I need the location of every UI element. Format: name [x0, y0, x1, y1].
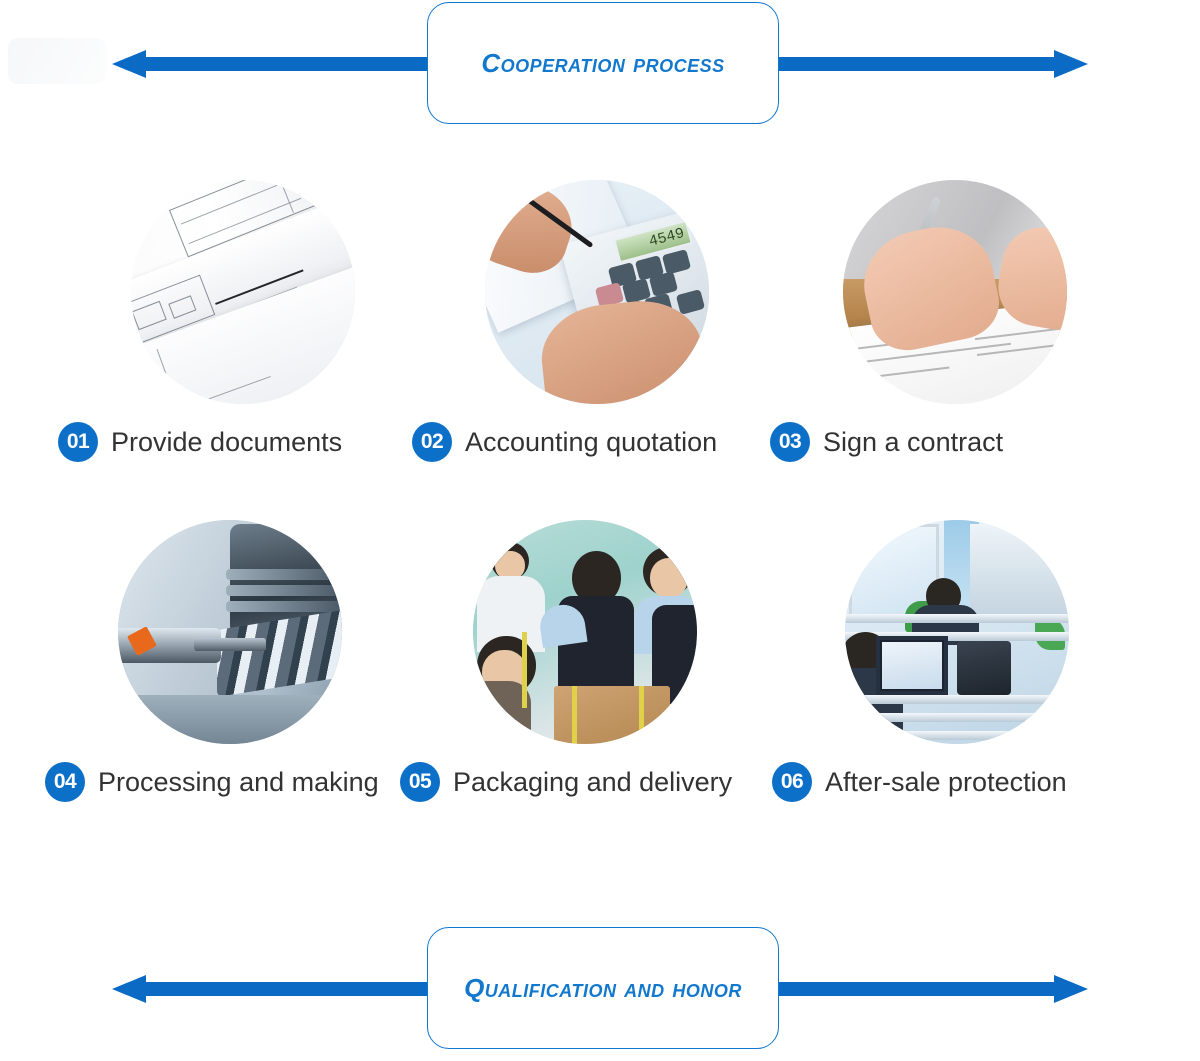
left-arrow-head	[112, 50, 146, 78]
hand-signing-contract-photo	[843, 180, 1067, 404]
right-arrow-icon-bottom	[760, 975, 1088, 1003]
step-card-02[interactable]: 4549	[412, 180, 782, 462]
step-card-05[interactable]: 05 Packaging and delivery	[400, 520, 770, 802]
step-card-03[interactable]: 03 Sign a contract	[770, 180, 1140, 462]
step-label-01: Provide documents	[111, 429, 342, 456]
step-caption-06: 06 After-sale protection	[772, 762, 1142, 802]
bottom-banner: Qualification and honor	[0, 925, 1200, 1055]
step-card-04[interactable]: 04 Processing and making	[45, 520, 415, 802]
left-arrow-icon	[112, 50, 442, 78]
left-arrow-icon-bottom	[112, 975, 442, 1003]
hands-calculator-photo: 4549	[485, 180, 709, 404]
rolled-blueprints-photo	[131, 180, 355, 404]
step-image-06	[845, 520, 1069, 744]
step-image-01	[131, 180, 355, 404]
step-caption-03: 03 Sign a contract	[770, 422, 1140, 462]
workers-packing-boxes-photo	[473, 520, 697, 744]
top-banner: Cooperation process	[0, 0, 1200, 130]
top-banner-title: Cooperation process	[481, 48, 724, 79]
right-arrow-head-bottom	[1054, 975, 1088, 1003]
step-card-06[interactable]: 06 After-sale protection	[772, 520, 1142, 802]
step-image-02: 4549	[485, 180, 709, 404]
step-card-01[interactable]: 01 Provide documents	[58, 180, 428, 462]
right-arrow-shaft	[760, 57, 1055, 71]
right-arrow-icon	[760, 50, 1088, 78]
top-banner-box: Cooperation process	[427, 2, 779, 124]
step-image-03	[843, 180, 1067, 404]
step-number-badge-06: 06	[772, 762, 812, 802]
step-number-badge-01: 01	[58, 422, 98, 462]
steps-row-1: 01 Provide documents 4549	[0, 180, 1200, 520]
cnc-machining-photo	[118, 520, 342, 744]
bottom-banner-title: Qualification and honor	[464, 973, 742, 1004]
bottom-banner-box: Qualification and honor	[427, 927, 779, 1049]
office-workers-computers-photo	[845, 520, 1069, 744]
left-arrow-head-bottom	[112, 975, 146, 1003]
step-label-06: After-sale protection	[825, 769, 1067, 796]
step-caption-04: 04 Processing and making	[45, 762, 415, 802]
step-caption-01: 01 Provide documents	[58, 422, 428, 462]
right-arrow-shaft-bottom	[760, 982, 1055, 996]
steps-row-2: 04 Processing and making	[0, 520, 1200, 860]
step-label-04: Processing and making	[98, 769, 379, 796]
step-number-badge-02: 02	[412, 422, 452, 462]
step-number-badge-05: 05	[400, 762, 440, 802]
step-number-badge-04: 04	[45, 762, 85, 802]
left-arrow-shaft	[145, 57, 442, 71]
steps-grid: 01 Provide documents 4549	[0, 180, 1200, 860]
step-image-05	[473, 520, 697, 744]
step-image-04	[118, 520, 342, 744]
step-number-badge-03: 03	[770, 422, 810, 462]
right-arrow-head	[1054, 50, 1088, 78]
step-caption-05: 05 Packaging and delivery	[400, 762, 770, 802]
step-label-03: Sign a contract	[823, 429, 1003, 456]
step-label-05: Packaging and delivery	[453, 769, 732, 796]
left-arrow-shaft-bottom	[145, 982, 442, 996]
step-label-02: Accounting quotation	[465, 429, 717, 456]
cooperation-process-infographic: Cooperation process	[0, 0, 1200, 1061]
step-caption-02: 02 Accounting quotation	[412, 422, 782, 462]
